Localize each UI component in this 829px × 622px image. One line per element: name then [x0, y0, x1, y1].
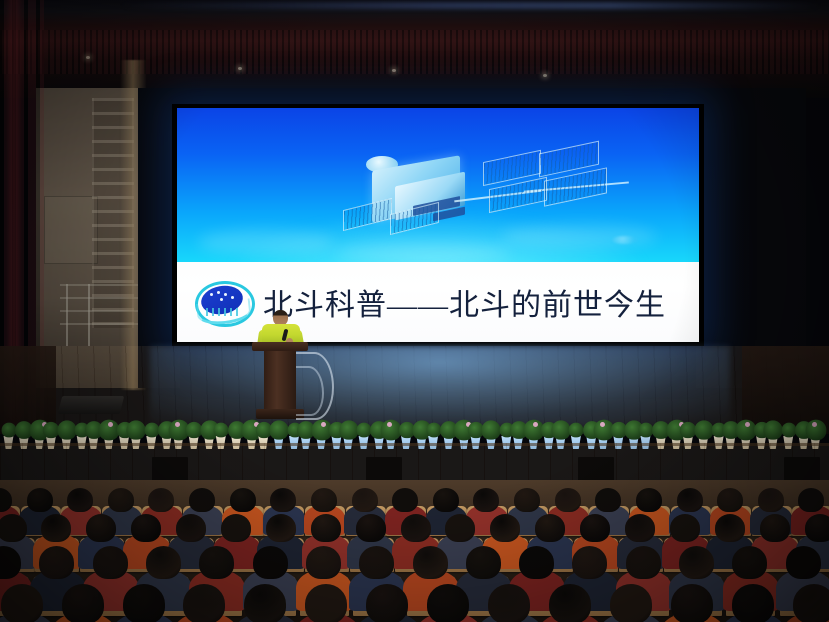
plant-flower — [175, 422, 180, 427]
floor-monitor-speaker — [58, 396, 124, 414]
student-audience — [0, 480, 829, 622]
logo-star — [224, 293, 227, 296]
plant-flower — [600, 422, 605, 427]
audience-member-head — [671, 584, 713, 622]
audience-member-head — [715, 514, 745, 542]
audience-member-head — [86, 514, 116, 542]
audience-member-head — [199, 546, 234, 579]
audience-member-head — [131, 514, 161, 542]
audience-member-head — [183, 584, 225, 622]
plant-foliage — [339, 420, 358, 439]
audience-member-head — [305, 584, 347, 622]
microphone-cable-loop — [296, 366, 324, 416]
plant-foliage — [57, 420, 76, 439]
podium-top — [252, 342, 308, 351]
audience-member-head — [67, 488, 93, 512]
audience-member-head — [266, 514, 296, 542]
plant-foliage — [214, 423, 229, 438]
podium-column — [264, 351, 296, 413]
audience-member-head — [189, 488, 215, 512]
plant-flower — [533, 422, 538, 427]
slide-title-band: 北斗科普——北斗的前世今生 — [177, 262, 699, 342]
audience-member-head — [677, 488, 703, 512]
audience-member-head — [625, 514, 655, 542]
audience-member-head — [514, 488, 540, 512]
audience-member-head — [148, 488, 174, 512]
audience-member-head — [798, 488, 824, 512]
audience-member-head — [221, 514, 251, 542]
slide-title-text: 北斗科普——北斗的前世今生 — [263, 280, 666, 324]
plant-flower — [321, 422, 326, 427]
ceiling-lamp — [86, 56, 90, 59]
audience-member-head — [786, 546, 821, 579]
stage-masking-right — [696, 88, 806, 388]
audience-member-head — [679, 546, 714, 579]
plant-foliage — [144, 423, 159, 438]
stage-front-edge — [0, 443, 829, 446]
audience-member-head — [230, 488, 256, 512]
audience-member-head — [473, 488, 499, 512]
plant-foliage — [694, 420, 713, 439]
audience-member-head — [626, 546, 661, 579]
audience-member-head — [595, 488, 621, 512]
ceiling-lamp — [392, 69, 396, 72]
logo-star — [231, 296, 234, 299]
audience-member-head — [270, 488, 296, 512]
audience-member-head — [535, 514, 565, 542]
audience-member-head — [244, 584, 286, 622]
ceiling-lamp — [238, 67, 242, 70]
audience-member-head — [758, 488, 784, 512]
audience-member-head — [549, 584, 591, 622]
logo-star — [210, 293, 213, 296]
ceiling-lamp — [543, 74, 547, 77]
plant-flower — [812, 422, 817, 427]
satellite-orb-glow — [612, 236, 638, 244]
led-presentation-screen: 北斗科普——北斗的前世今生 — [172, 104, 704, 346]
audience-member-head — [123, 584, 165, 622]
railing-post — [66, 284, 68, 346]
audience-member-head — [636, 488, 662, 512]
audience-member-head — [306, 546, 341, 579]
audience-member-head — [732, 584, 774, 622]
cloud-shape — [198, 230, 334, 256]
logo-star — [217, 291, 220, 294]
audience-member-head — [0, 514, 27, 542]
audience-member-head — [805, 514, 829, 542]
audience-member-head — [760, 514, 790, 542]
plant-foliage — [482, 420, 501, 439]
audience-member-head — [490, 514, 520, 542]
beidou-logo — [193, 280, 253, 324]
audience-member-head — [555, 488, 581, 512]
audience-member-head — [27, 488, 53, 512]
audience-member-head — [572, 546, 607, 579]
audience-member-head — [359, 546, 394, 579]
ceiling-light-strip — [120, 2, 820, 9]
audience-member-head — [311, 514, 341, 542]
audience-member-head — [108, 488, 134, 512]
railing-post — [88, 284, 90, 346]
audience-member-head — [610, 584, 652, 622]
audience-member-head — [146, 546, 181, 579]
satellite-illustration — [354, 141, 646, 253]
audience-member-head — [356, 514, 386, 542]
logo-text-marks — [206, 308, 240, 316]
audience-member-head — [41, 514, 71, 542]
audience-member-head — [39, 546, 74, 579]
audience-member-head — [401, 514, 431, 542]
audience-member-head — [793, 584, 829, 622]
wall-panel — [44, 196, 98, 264]
plant-foliage — [426, 423, 441, 438]
audience-member-head — [670, 514, 700, 542]
auditorium-screenshot: 北斗科普——北斗的前世今生 — [0, 0, 829, 622]
audience-member-head — [1, 584, 43, 622]
plant-foliage — [764, 420, 783, 439]
audience-member-head — [366, 584, 408, 622]
audience-member-head — [488, 584, 530, 622]
audience-member-head — [413, 546, 448, 579]
audience-member-head — [62, 584, 104, 622]
audience-member-head — [717, 488, 743, 512]
plant-foliage — [127, 420, 146, 439]
audience-member-head — [176, 514, 206, 542]
audience-member-head — [732, 546, 767, 579]
audience-member-head — [445, 514, 475, 542]
audience-member-head — [466, 546, 501, 579]
plant-foliage — [781, 423, 796, 438]
audience-member-head — [427, 584, 469, 622]
plant-foliage — [270, 420, 289, 439]
audience-member-head — [93, 546, 128, 579]
audience-member-head — [253, 546, 288, 579]
audience-member-head — [352, 488, 378, 512]
audience-member-head — [433, 488, 459, 512]
audience-member-head — [519, 546, 554, 579]
audience-member-head — [580, 514, 610, 542]
screen-content: 北斗科普——北斗的前世今生 — [177, 108, 699, 342]
plant-foliage — [569, 423, 584, 438]
audience-member-head — [311, 488, 337, 512]
audience-member-head — [392, 488, 418, 512]
